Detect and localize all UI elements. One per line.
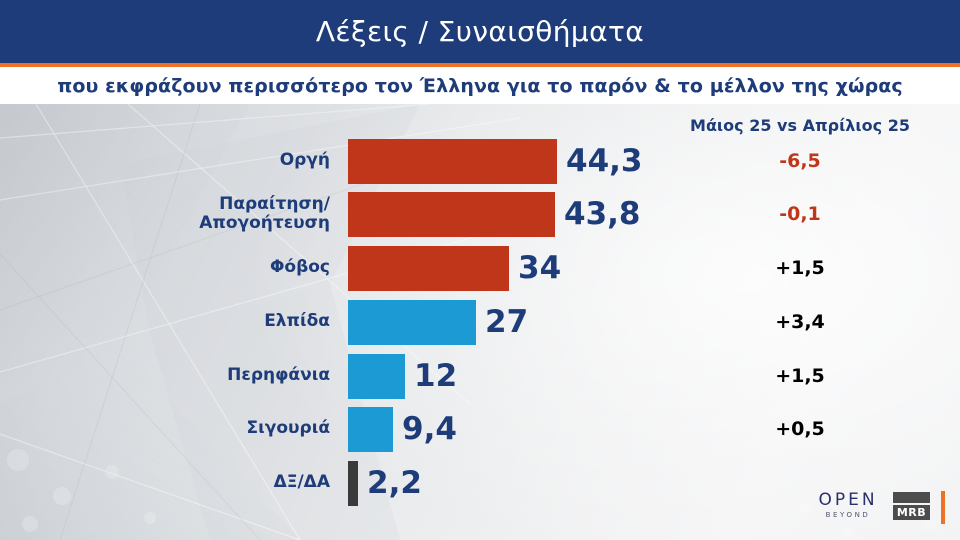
row-label-dxda: ΔΞ/ΔΑ — [40, 457, 330, 509]
beyond-logo-text: BEYOND — [812, 512, 884, 519]
footer-accent-bar — [941, 491, 945, 524]
bar-track: 34 — [348, 242, 561, 294]
poll-graphic: Λέξεις / Συναισθήματα που εκφράζουν περι… — [0, 0, 960, 540]
bar-track: 12 — [348, 350, 457, 402]
subtitle-bar: που εκφράζουν περισσότερο τον Έλληνα για… — [0, 67, 960, 104]
row-label-orgi: Οργή — [40, 135, 330, 187]
delta-orgi: -6,5 — [660, 135, 940, 187]
bar-paraitisi — [348, 192, 555, 237]
row-label-elpida: Ελπίδα — [40, 296, 330, 348]
table-row: Οργή 44,3 -6,5 — [0, 135, 960, 187]
open-beyond-logo: OPEN BEYOND — [812, 492, 884, 519]
bar-track: 2,2 — [348, 457, 422, 509]
header-bar: Λέξεις / Συναισθήματα — [0, 0, 960, 63]
table-row: Φόβος 34 +1,5 — [0, 242, 960, 294]
row-label-paraitisi: Παραίτηση/ Απογοήτευση — [40, 188, 330, 240]
delta-sigouria: +0,5 — [660, 403, 940, 455]
bar-track: 44,3 — [348, 135, 643, 187]
mrb-logo-bar — [893, 492, 930, 503]
bar-value-sigouria: 9,4 — [402, 414, 457, 445]
delta-fovos: +1,5 — [660, 242, 940, 294]
row-label-perifania: Περηφάνια — [40, 350, 330, 402]
chart-rows: Οργή 44,3 -6,5 Παραίτηση/ Απογοήτευση 43… — [0, 104, 960, 540]
delta-paraitisi: -0,1 — [660, 188, 940, 240]
open-logo-text: OPEN — [812, 492, 884, 509]
row-label-sigouria: Σιγουριά — [40, 403, 330, 455]
bar-value-perifania: 12 — [414, 361, 457, 392]
row-label-fovos: Φόβος — [40, 242, 330, 294]
mrb-logo-text: MRB — [893, 505, 930, 520]
table-row: Σιγουριά 9,4 +0,5 — [0, 403, 960, 455]
page-subtitle: που εκφράζουν περισσότερο τον Έλληνα για… — [57, 75, 903, 97]
page-title: Λέξεις / Συναισθήματα — [316, 15, 644, 48]
bar-dxda — [348, 461, 358, 506]
bar-elpida — [348, 300, 476, 345]
delta-elpida: +3,4 — [660, 296, 940, 348]
bar-orgi — [348, 139, 557, 184]
bar-sigouria — [348, 407, 393, 452]
bar-value-elpida: 27 — [485, 307, 528, 338]
mrb-logo: MRB — [893, 492, 930, 520]
bar-track: 9,4 — [348, 403, 457, 455]
bar-value-paraitisi: 43,8 — [564, 199, 641, 230]
bar-track: 43,8 — [348, 188, 641, 240]
bar-fovos — [348, 246, 509, 291]
bar-track: 27 — [348, 296, 528, 348]
bar-value-dxda: 2,2 — [367, 468, 422, 499]
table-row: Παραίτηση/ Απογοήτευση 43,8 -0,1 — [0, 188, 960, 240]
bar-value-fovos: 34 — [518, 253, 561, 284]
table-row: Ελπίδα 27 +3,4 — [0, 296, 960, 348]
bar-perifania — [348, 354, 405, 399]
delta-perifania: +1,5 — [660, 350, 940, 402]
bar-value-orgi: 44,3 — [566, 146, 643, 177]
table-row: Περηφάνια 12 +1,5 — [0, 350, 960, 402]
